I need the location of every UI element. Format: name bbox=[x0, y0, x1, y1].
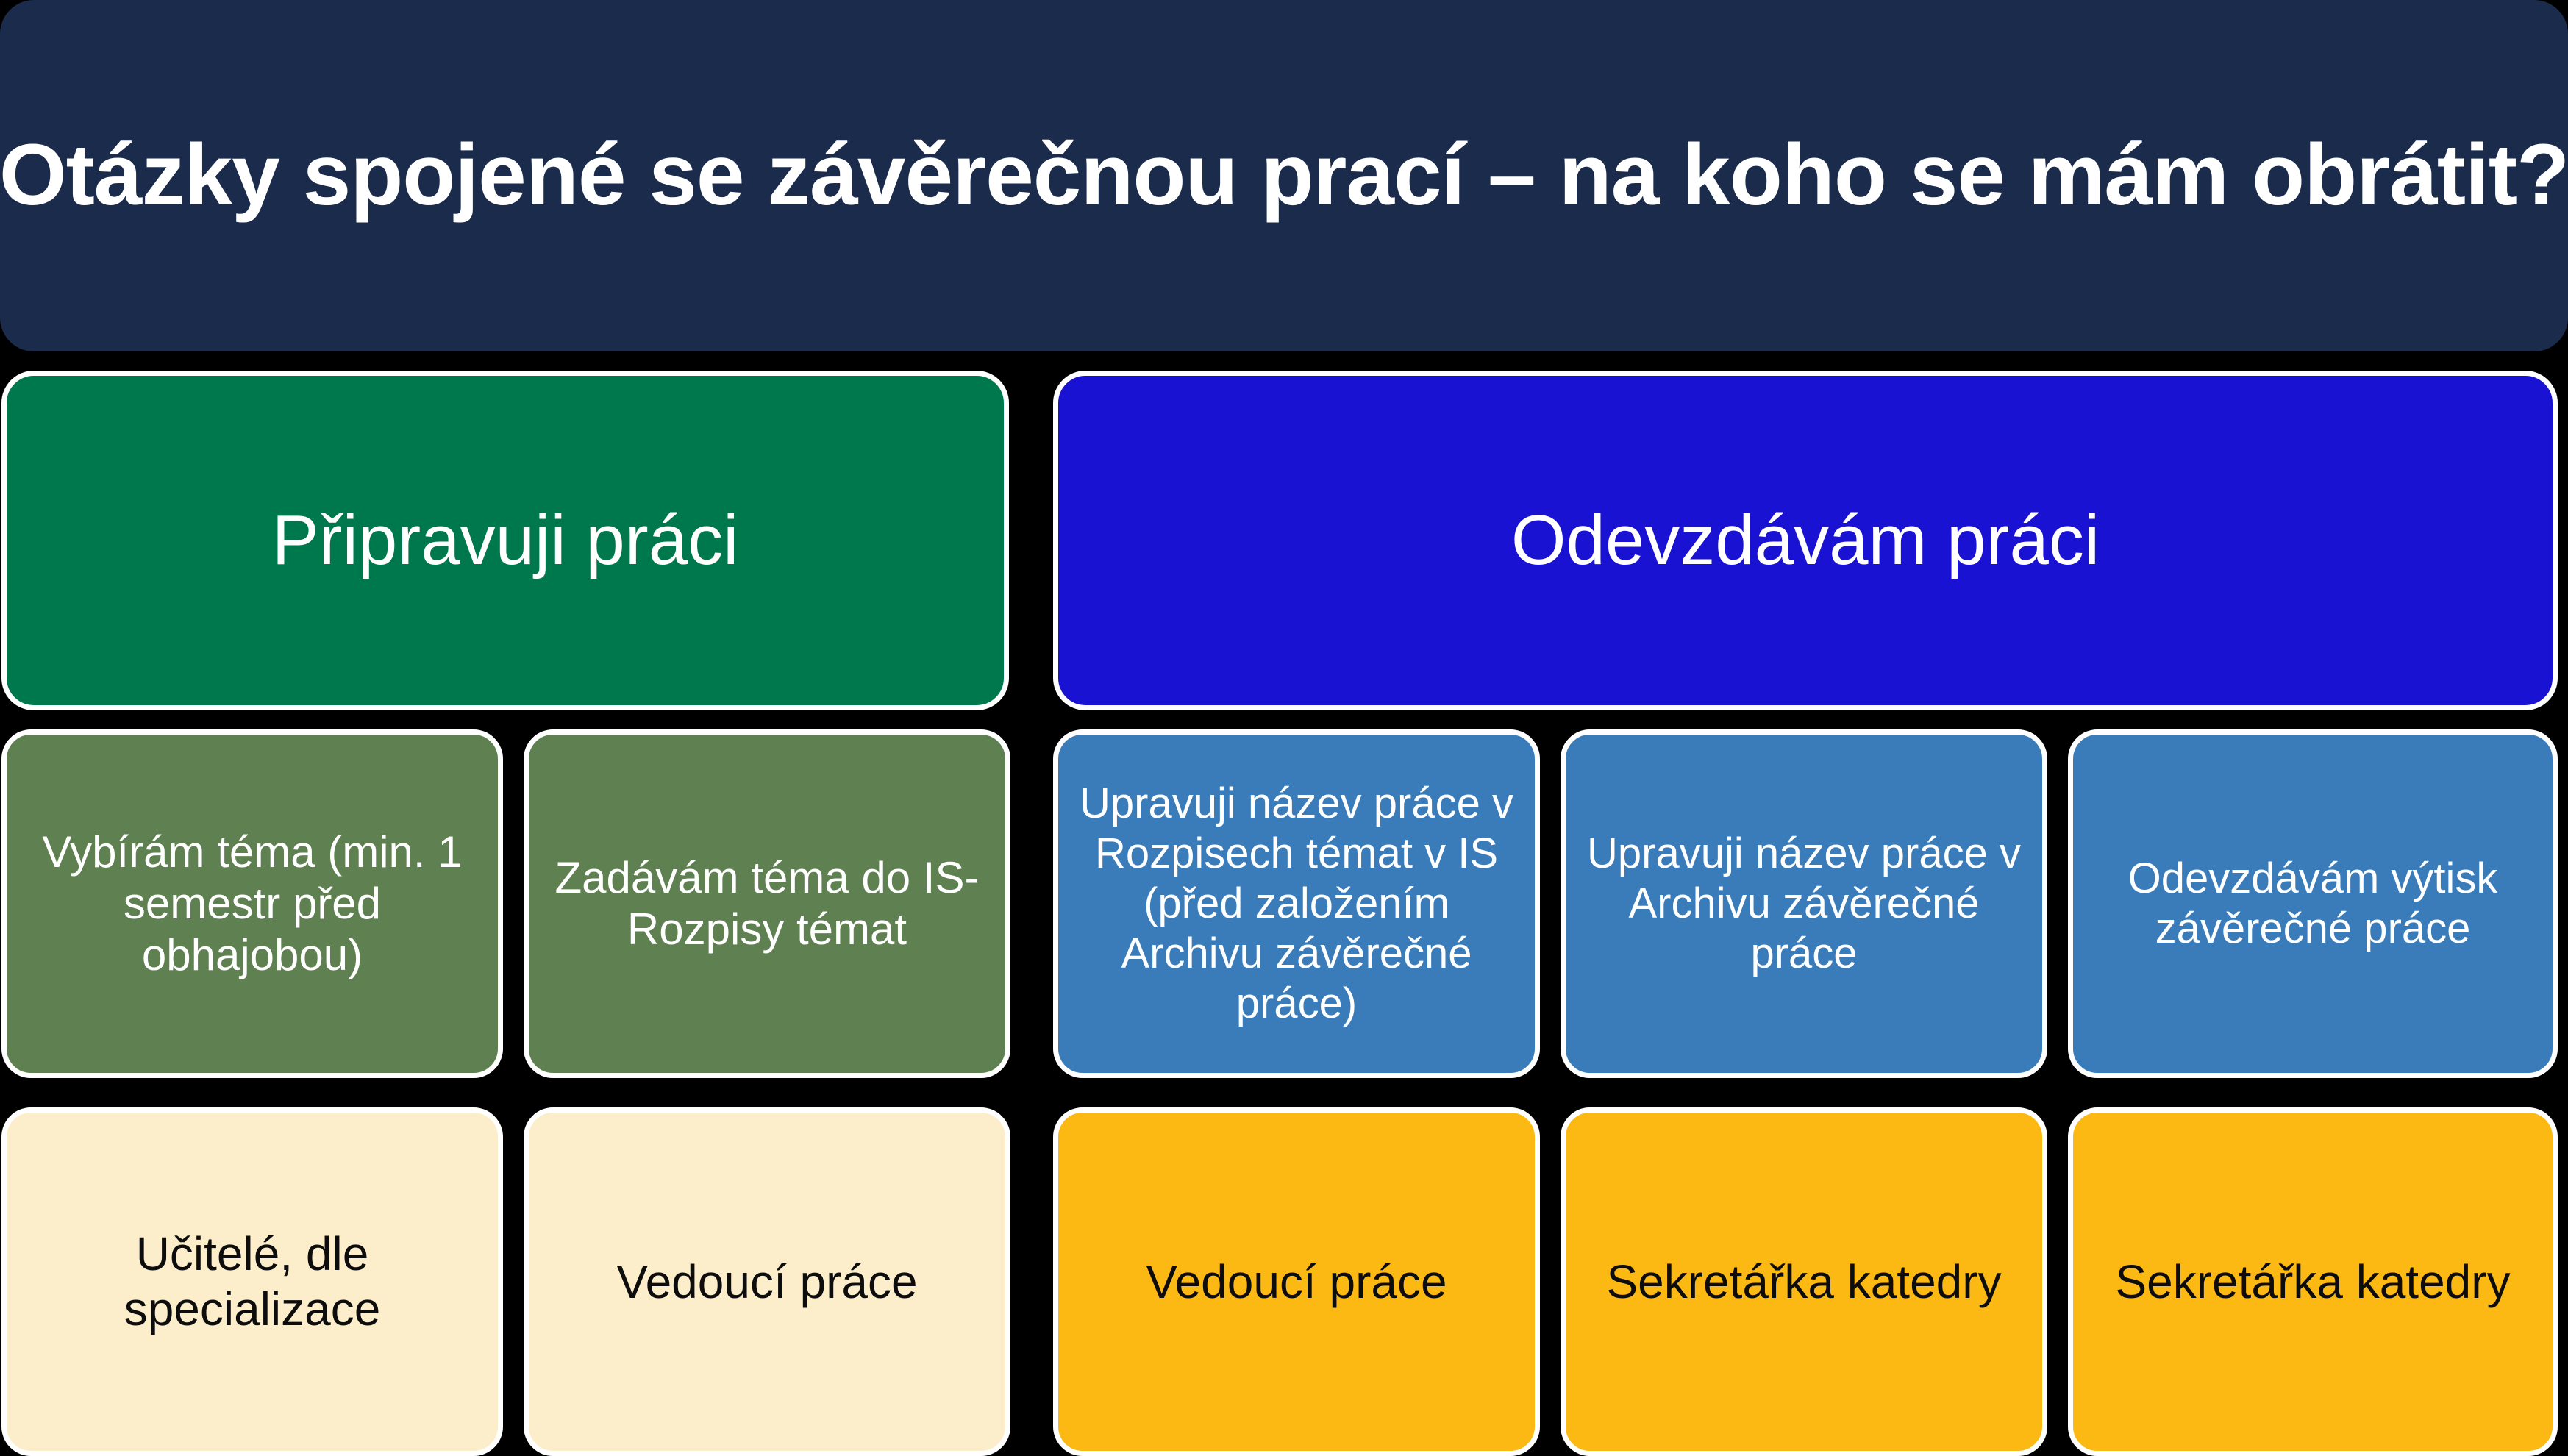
column-header-odevzdani-label: Odevzdávám práci bbox=[1074, 499, 2536, 582]
contact-card-2-label: Vedoucí práce bbox=[545, 1255, 989, 1310]
contact-card-4-label: Sekretářka katedry bbox=[1582, 1255, 2026, 1310]
contact-card-3-label: Vedoucí práce bbox=[1074, 1255, 1519, 1310]
column-header-priprava-label: Připravuji práci bbox=[23, 499, 988, 582]
column-header-priprava[interactable]: Připravuji práci bbox=[1, 371, 1009, 710]
contact-card-2[interactable]: Vedoucí práce bbox=[524, 1107, 1010, 1456]
slide-canvas: Otázky spojené se závěrečnou prací – na … bbox=[0, 0, 2568, 1450]
action-card-2-label: Zadávám téma do IS- Rozpisy témat bbox=[545, 852, 989, 955]
slide-title-banner: Otázky spojené se závěrečnou prací – na … bbox=[0, 0, 2568, 351]
action-card-1[interactable]: Vybírám téma (min. 1 semestr před obhajo… bbox=[1, 729, 503, 1078]
action-card-4-label: Upravuji název práce v Archivu závěrečné… bbox=[1582, 829, 2026, 979]
contact-card-5[interactable]: Sekretářka katedry bbox=[2068, 1107, 2558, 1456]
contact-card-1[interactable]: Učitelé, dle specializace bbox=[1, 1107, 503, 1456]
column-header-odevzdani[interactable]: Odevzdávám práci bbox=[1053, 371, 2558, 710]
action-card-3-label: Upravuji název práce v Rozpisech témat v… bbox=[1074, 779, 1519, 1028]
contact-card-5-label: Sekretářka katedry bbox=[2089, 1255, 2536, 1310]
action-card-3[interactable]: Upravuji název práce v Rozpisech témat v… bbox=[1053, 729, 1540, 1078]
action-card-2[interactable]: Zadávám téma do IS- Rozpisy témat bbox=[524, 729, 1010, 1078]
action-card-5[interactable]: Odevzdávám výtisk závěrečné práce bbox=[2068, 729, 2558, 1078]
action-card-5-label: Odevzdávám výtisk závěrečné práce bbox=[2089, 854, 2536, 954]
contact-card-3[interactable]: Vedoucí práce bbox=[1053, 1107, 1540, 1456]
action-card-1-label: Vybírám téma (min. 1 semestr před obhajo… bbox=[23, 827, 482, 982]
contact-card-4[interactable]: Sekretářka katedry bbox=[1561, 1107, 2047, 1456]
contact-card-1-label: Učitelé, dle specializace bbox=[23, 1227, 482, 1337]
action-card-4[interactable]: Upravuji název práce v Archivu závěrečné… bbox=[1561, 729, 2047, 1078]
page-title: Otázky spojené se závěrečnou prací – na … bbox=[0, 128, 2568, 224]
